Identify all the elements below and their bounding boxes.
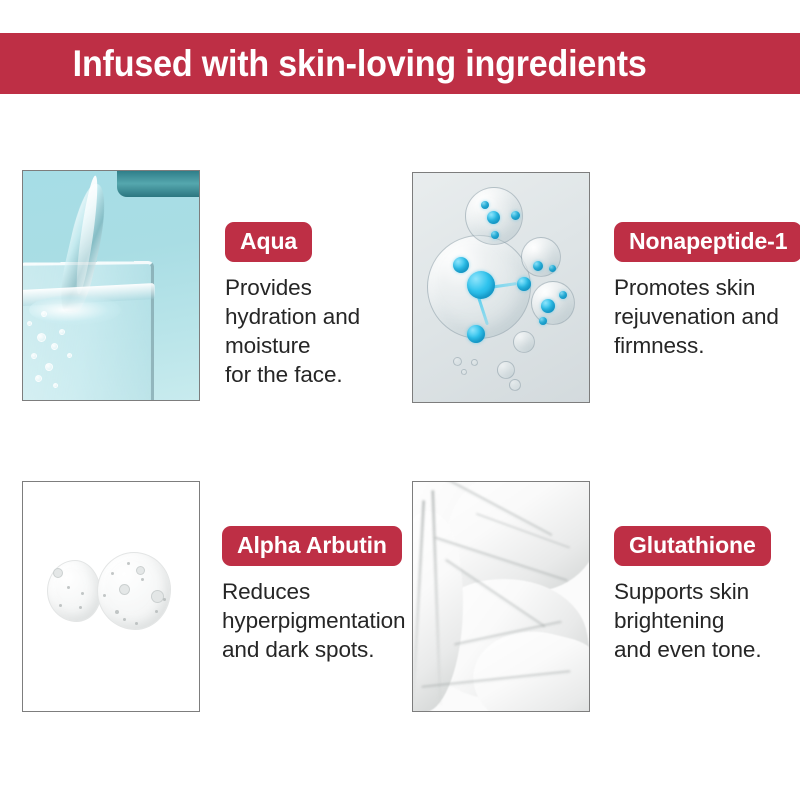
faucet-shape (117, 171, 199, 197)
gel-speck-shape (163, 598, 166, 601)
bubble-shape (453, 357, 462, 366)
infographic-page: Infused with skin-loving ingredients (0, 0, 800, 800)
gel-bubble-shape (119, 584, 130, 595)
molecule-node (467, 325, 485, 343)
gel-speck-shape (79, 606, 82, 609)
page-title: Infused with skin-loving ingredients (0, 43, 647, 85)
molecule-node (491, 231, 499, 239)
ingredient-image-frame-nonapeptide (412, 172, 590, 403)
water-splash-shape (29, 295, 121, 325)
molecule-node (487, 211, 500, 224)
molecule-node (467, 271, 495, 299)
bubble-shape (45, 363, 53, 371)
bubble-shape (59, 329, 65, 335)
bubble-shape (471, 359, 478, 366)
bubble-shape (37, 333, 46, 342)
molecule-node (559, 291, 567, 299)
ingredient-text-column-glutathione: Glutathione Supports skin brightening an… (590, 481, 771, 664)
bubble-shape (513, 331, 535, 353)
bubble-shape (497, 361, 515, 379)
bubble-shape (41, 311, 47, 317)
gel-speck-shape (67, 586, 70, 589)
bubble-shape (51, 343, 58, 350)
clear-gel-drops-photo (23, 482, 199, 711)
gel-speck-shape (111, 572, 114, 575)
molecule-node (539, 317, 547, 325)
ingredient-card-arbutin: Alpha Arbutin Reduces hyperpigmentation … (22, 481, 405, 712)
gel-speck-shape (141, 578, 144, 581)
water-pouring-into-glass-photo (23, 171, 199, 400)
molecule-node (517, 277, 531, 291)
ingredient-card-aqua: Aqua Provides hydration and moisture for… (22, 170, 360, 401)
ingredient-image-frame-arbutin (22, 481, 200, 712)
bubble-shape (67, 353, 72, 358)
white-cream-texture-photo (413, 482, 589, 711)
gel-speck-shape (115, 610, 119, 614)
molecule-node (481, 201, 489, 209)
ingredient-image-frame-glutathione (412, 481, 590, 712)
gel-bubble-shape (151, 590, 164, 603)
bubble-shape (521, 237, 561, 277)
ingredient-description-glutathione: Supports skin brightening and even tone. (614, 577, 771, 664)
ingredient-text-column-arbutin: Alpha Arbutin Reduces hyperpigmentation … (200, 481, 405, 664)
ingredient-description-aqua: Provides hydration and moisture for the … (225, 273, 360, 389)
bubble-shape (53, 383, 58, 388)
bubble-shape (27, 321, 32, 326)
ingredient-card-nonapeptide: Nonapeptide-1 Promotes skin rejuvenation… (412, 172, 800, 403)
bubble-shape (461, 369, 467, 375)
ingredient-text-column-nonapeptide: Nonapeptide-1 Promotes skin rejuvenation… (590, 172, 800, 360)
molecule-node (533, 261, 543, 271)
gel-bubble-shape (136, 566, 145, 575)
molecule-bubbles-photo (413, 173, 589, 402)
bubble-shape (509, 379, 521, 391)
molecule-node (511, 211, 520, 220)
molecule-node (453, 257, 469, 273)
gel-bubble-shape (53, 568, 63, 578)
ingredient-description-nonapeptide: Promotes skin rejuvenation and firmness. (614, 273, 800, 360)
ingredient-badge-glutathione: Glutathione (614, 526, 771, 566)
ingredient-description-arbutin: Reduces hyperpigmentation and dark spots… (222, 577, 405, 664)
gel-speck-shape (127, 562, 130, 565)
gel-speck-shape (155, 610, 158, 613)
ingredient-image-frame-aqua (22, 170, 200, 401)
ingredient-card-glutathione: Glutathione Supports skin brightening an… (412, 481, 771, 712)
gel-speck-shape (59, 604, 62, 607)
header-banner: Infused with skin-loving ingredients (0, 33, 800, 94)
gel-speck-shape (81, 592, 84, 595)
ingredient-text-column-aqua: Aqua Provides hydration and moisture for… (200, 170, 360, 389)
molecule-node (549, 265, 556, 272)
gel-speck-shape (123, 618, 126, 621)
molecule-node (541, 299, 555, 313)
ingredient-badge-arbutin: Alpha Arbutin (222, 526, 402, 566)
gel-speck-shape (103, 594, 106, 597)
bubble-shape (35, 375, 42, 382)
ingredient-badge-nonapeptide: Nonapeptide-1 (614, 222, 800, 262)
gel-speck-shape (135, 622, 138, 625)
bubble-shape (31, 353, 37, 359)
ingredient-badge-aqua: Aqua (225, 222, 312, 262)
